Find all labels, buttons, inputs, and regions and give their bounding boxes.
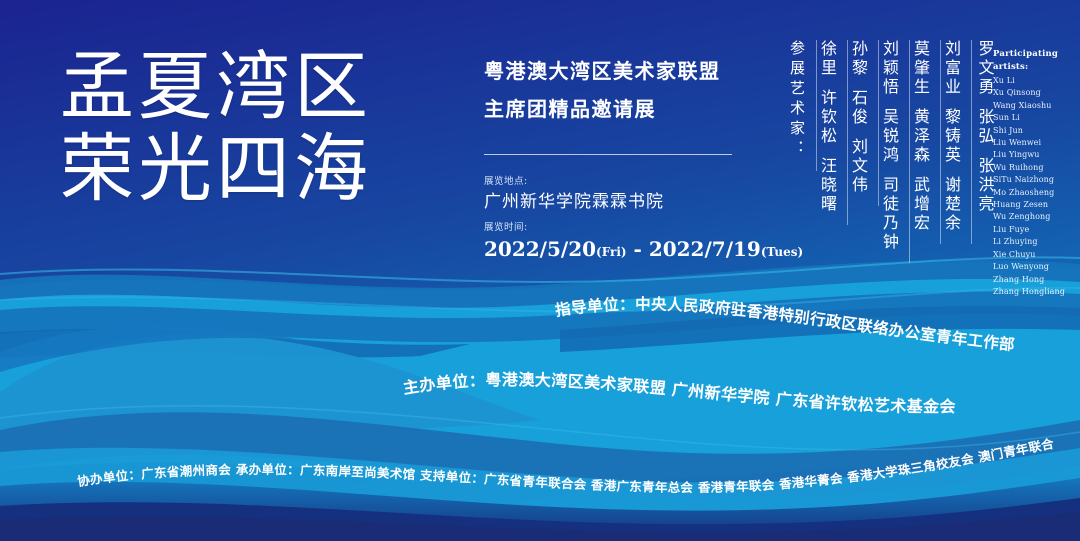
artist-name-cn: 武增宏 [910,176,931,233]
artist-name-en: Xie Chuyu [993,249,1080,261]
artist-name-cn: 徐里 [817,40,838,78]
artist-name-cn: 黎铸英 [941,108,962,165]
subtitle-line-2: 主席团精品邀请展 [484,90,754,128]
artist-column-5: 孙黎石俊刘文伟 [848,40,879,206]
subtitle-line-1: 粤港澳大湾区美术家联盟 [484,52,754,90]
artists-chinese-columns: 罗文勇张弘张洪亮刘富业黎铸英谢楚余莫肇生黄泽森武增宏刘颖悟吴锐鸿司徒乃钟孙黎石俊… [786,40,998,260]
artist-column-6: 徐里许钦松汪晓曙 [817,40,848,225]
artist-name-en: Wu Zenghong [993,211,1080,223]
date-end: 2022/7/19 [649,237,761,261]
artist-name-en: Huang Zesen [993,199,1080,211]
artist-name-en: Mo Zhaosheng [993,187,1080,199]
artist-name-cn: 刘富业 [941,40,962,97]
artist-name-cn: 石俊 [848,89,869,127]
artists-english-list: Participating artists: Xu LiXu QinsongWa… [993,48,1080,298]
date-start-dow: (Fri) [596,245,627,259]
artist-name-en: Sun Li [993,112,1080,124]
artist-name-cn: 莫肇生 [910,40,931,97]
artist-name-en: Liu Yingwu [993,149,1080,161]
artists-label: 参展艺术家： [786,40,807,160]
artist-name-en: Zhang Hongliang [993,286,1080,298]
artist-name-en: Xu Qinsong [993,87,1080,99]
artist-name-en: Shi Jun [993,125,1080,137]
venue-label: 展览地点: [484,175,754,189]
exhibition-poster: 孟夏湾区 荣光四海 粤港澳大湾区美术家联盟 主席团精品邀请展 展览地点: 广州新… [0,0,1080,541]
artist-name-cn: 许钦松 [817,89,838,146]
venue-value: 广州新华学院霖霖书院 [484,189,754,215]
artist-name-cn: 谢楚余 [941,176,962,233]
artist-column-2: 刘富业黎铸英谢楚余 [941,40,972,244]
artist-name-en: Luo Wenyong [993,261,1080,273]
artist-name-en: Zhang Hong [993,274,1080,286]
exhibition-info: 粤港澳大湾区美术家联盟 主席团精品邀请展 展览地点: 广州新华学院霖霖书院 展览… [484,52,754,266]
artist-name-en: Liu Wenwei [993,137,1080,149]
date-label: 展览时间: [484,221,754,235]
artist-name-en: Liu Fuye [993,224,1080,236]
date-separator: - [627,237,649,261]
poster-title: 孟夏湾区 荣光四海 [60,46,372,210]
artists-label-column: 参展艺术家： [786,40,817,171]
artists-english-heading: Participating artists: [993,48,1080,74]
date-range: 2022/5/20(Fri) - 2022/7/19(Tues) [484,235,754,266]
artist-name-cn: 吴锐鸿 [879,108,900,165]
artist-name-en: SiTu Naizhong [993,174,1080,186]
artist-column-3: 莫肇生黄泽森武增宏 [910,40,941,244]
artist-name-cn: 孙黎 [848,40,869,78]
artist-name-cn: 汪晓曙 [817,157,838,214]
artist-column-4: 刘颖悟吴锐鸿司徒乃钟 [879,40,910,263]
title-line-2: 荣光四海 [60,128,372,210]
artist-name-cn: 司徒乃钟 [879,176,900,252]
artist-name-en: Wu Ruihong [993,162,1080,174]
artist-name-cn: 刘文伟 [848,138,869,195]
artist-name-en: Xu Li [993,75,1080,87]
date-start: 2022/5/20 [484,237,596,261]
artist-name-cn: 刘颖悟 [879,40,900,97]
artist-name-cn: 黄泽森 [910,108,931,165]
title-line-1: 孟夏湾区 [60,46,372,128]
divider-rule [484,154,732,155]
artist-name-en: Li Zhuying [993,236,1080,248]
artist-name-en: Wang Xiaoshu [993,100,1080,112]
